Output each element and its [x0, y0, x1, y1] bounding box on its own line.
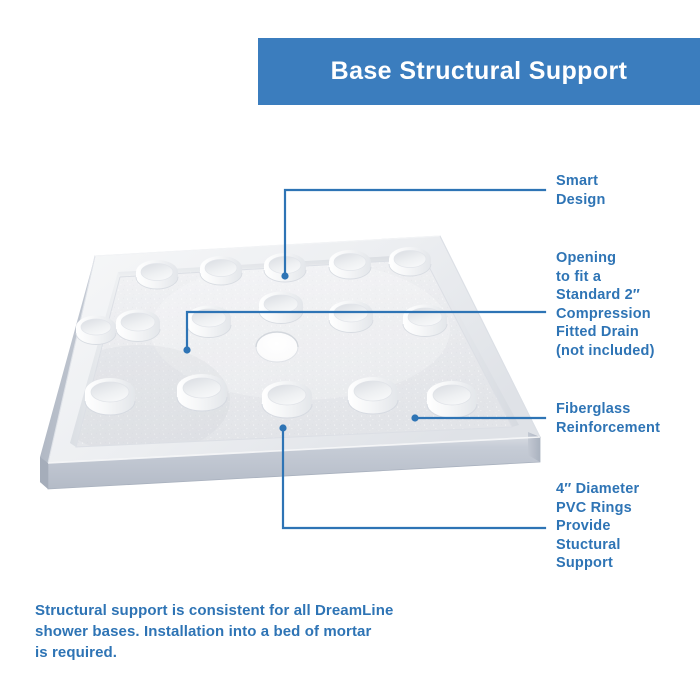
pvc-ring: [329, 301, 373, 333]
pan-inner-edge: [76, 259, 512, 447]
header-bar: Base Structural Support: [258, 38, 700, 105]
leader-dot-drain-opening: [183, 346, 190, 353]
pvc-ring: [348, 377, 398, 414]
curb-outer-left-edge: [48, 256, 95, 463]
pvc-ring: [329, 250, 371, 279]
callout-label-fiberglass-reinforcement: Fiberglass Reinforcement: [556, 400, 700, 437]
leader-line-drain-opening: [187, 312, 545, 350]
footer-caption: Structural support is consistent for all…: [35, 600, 505, 663]
pvc-ring: [187, 306, 231, 338]
pvc-ring: [427, 381, 477, 418]
illustration-canvas: Base Structural Support Smart Design Ope…: [0, 0, 700, 700]
pvc-ring: [264, 253, 306, 282]
curb-top-surface: [48, 236, 540, 463]
pvc-ring: [403, 305, 447, 337]
leader-line-pvc-rings: [283, 428, 545, 528]
pan-deck: [76, 259, 512, 447]
curb-outer-back-edge: [95, 236, 440, 256]
page-title: Base Structural Support: [331, 57, 628, 86]
pvc-ring: [200, 256, 242, 285]
curb-inner-left-wall: [70, 272, 120, 447]
pvc-ring: [259, 292, 303, 324]
pvc-ring: [76, 316, 116, 345]
leader-lines: [183, 190, 545, 528]
curb-inner-back-wall: [118, 254, 426, 277]
drain-opening-shadow: [256, 332, 298, 347]
curb-front-top-edge: [48, 437, 540, 463]
pvc-ring: [136, 260, 178, 289]
pvc-ring: [85, 378, 135, 415]
callout-label-pvc-rings: 4″ Diameter PVC Rings Provide Stuctural …: [556, 480, 700, 573]
curb-front-face: [48, 437, 540, 489]
deck-highlight: [150, 260, 450, 400]
callout-label-drain-opening: Opening to fit a Standard 2″ Compression…: [556, 249, 700, 360]
leader-line-smart-design: [285, 190, 545, 276]
curb-right-face: [528, 432, 540, 462]
pvc-ring: [116, 310, 160, 342]
pvc-ring: [262, 381, 312, 418]
drain-opening: [256, 332, 298, 362]
deck-texture: [60, 250, 530, 460]
callout-label-smart-design: Smart Design: [556, 172, 700, 209]
leader-dot-fiberglass: [411, 414, 418, 421]
leader-dot-pvc-rings: [279, 424, 286, 431]
leader-dot-smart-design: [281, 272, 288, 279]
curb-left-face-strip: [40, 457, 48, 489]
curb-inner-right-wall: [425, 254, 519, 427]
pvc-ring: [389, 247, 431, 276]
curb-left-face: [40, 256, 95, 489]
pvc-ring: [177, 374, 227, 411]
curb-outer-right-edge: [440, 236, 540, 437]
deck-shadow-left: [50, 345, 230, 455]
shower-base-body: [40, 236, 540, 489]
